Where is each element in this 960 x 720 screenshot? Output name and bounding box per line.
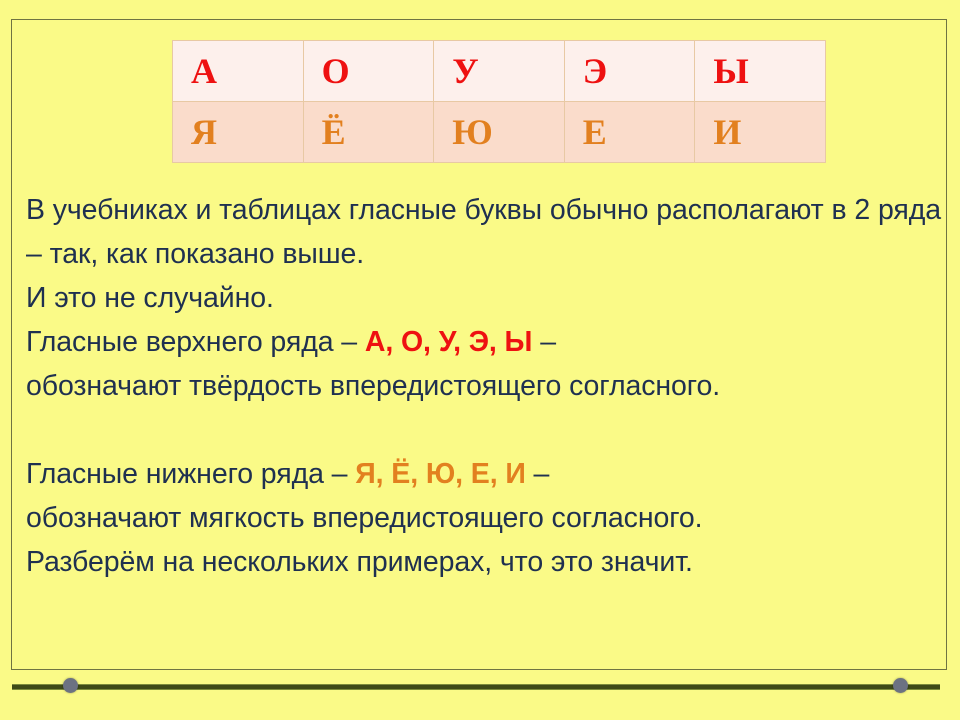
- upper-row-lead-text: Гласные верхнего ряда –: [26, 326, 365, 358]
- table-cell-soft-5: И: [695, 102, 826, 163]
- table-cell-hard-3: У: [434, 41, 565, 102]
- table-cell-hard-4: Э: [564, 41, 695, 102]
- slide: А О У Э Ы Я Ё Ю Е И В учебниках и таблиц…: [0, 0, 960, 720]
- table-row-hard-vowels: А О У Э Ы: [173, 41, 826, 102]
- paragraph-examples: Разберём на нескольких примерах, что это…: [26, 540, 926, 584]
- paragraph-not-random: И это не случайно.: [26, 276, 926, 320]
- paragraph-softness: обозначают мягкость впередистоящего согл…: [26, 496, 926, 540]
- vowel-table: А О У Э Ы Я Ё Ю Е И: [172, 40, 826, 163]
- vowel-table-container: А О У Э Ы Я Ё Ю Е И: [172, 40, 826, 163]
- lower-row-trailing-dash: –: [526, 458, 550, 490]
- paragraph-lower-row: Гласные нижнего ряда – Я, Ё, Ю, Е, И –: [26, 452, 926, 496]
- divider-dot-right-icon: [893, 678, 908, 693]
- paragraph-hardness: обозначают твёрдость впередистоящего сог…: [26, 364, 926, 408]
- table-cell-hard-1: А: [173, 41, 304, 102]
- upper-row-trailing-dash: –: [532, 326, 556, 358]
- lower-row-letters: Я, Ё, Ю, Е, И: [355, 458, 525, 490]
- table-cell-soft-1: Я: [173, 102, 304, 163]
- table-cell-hard-2: О: [303, 41, 434, 102]
- upper-row-letters: А, О, У, Э, Ы: [365, 326, 533, 358]
- lower-row-lead-text: Гласные нижнего ряда –: [26, 458, 355, 490]
- paragraph-intro: В учебниках и таблицах гласные буквы обы…: [26, 188, 941, 276]
- table-cell-soft-2: Ё: [303, 102, 434, 163]
- table-row-soft-vowels: Я Ё Ю Е И: [173, 102, 826, 163]
- divider-dot-left-icon: [63, 678, 78, 693]
- paragraph-upper-row: Гласные верхнего ряда – А, О, У, Э, Ы –: [26, 320, 926, 364]
- paragraph-spacer: [26, 408, 926, 452]
- table-cell-soft-4: Е: [564, 102, 695, 163]
- bottom-divider-rule: [12, 684, 940, 690]
- table-cell-hard-5: Ы: [695, 41, 826, 102]
- table-cell-soft-3: Ю: [434, 102, 565, 163]
- body-text-block: В учебниках и таблицах гласные буквы обы…: [26, 188, 926, 584]
